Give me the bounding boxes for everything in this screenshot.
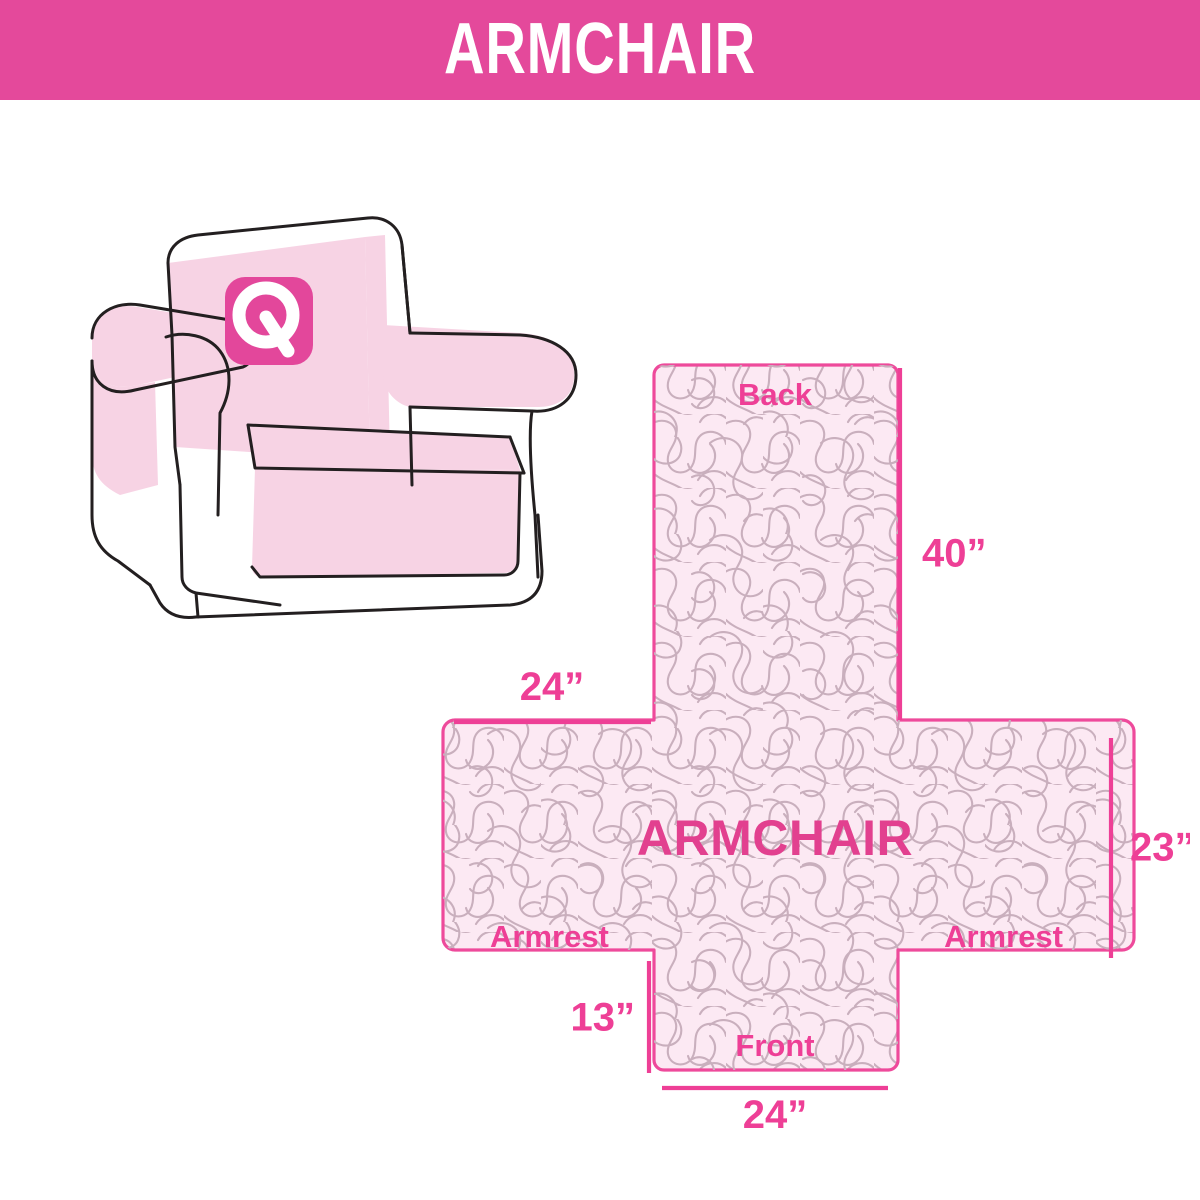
header-banner: ARMCHAIR — [0, 0, 1200, 100]
dim-label-front-width: 24” — [743, 1093, 808, 1130]
panel-label-back: Back — [738, 377, 813, 412]
cover-layout-svg: 40” 24” 23” 13” 24” Back Armrest Armrest… — [430, 340, 1190, 1130]
dim-label-body-depth: 23” — [1130, 826, 1190, 870]
page-title: ARMCHAIR — [444, 13, 756, 85]
cover-layout-diagram: 40” 24” 23” 13” 24” Back Armrest Armrest… — [430, 340, 1190, 1130]
dim-label-armrest-width: 24” — [520, 665, 585, 709]
panel-label-front: Front — [735, 1028, 814, 1063]
page-root: ARMCHAIR — [0, 0, 1200, 1200]
dim-label-back-height: 40” — [922, 532, 987, 576]
panel-label-armrest-left: Armrest — [490, 919, 609, 954]
cover-cross-shape — [430, 340, 1190, 1130]
panel-label-armrest-right: Armrest — [944, 919, 1063, 954]
dim-label-front-height: 13” — [571, 996, 636, 1040]
diagram-center-label: ARMCHAIR — [637, 810, 913, 866]
q-logo-badge — [225, 277, 313, 365]
